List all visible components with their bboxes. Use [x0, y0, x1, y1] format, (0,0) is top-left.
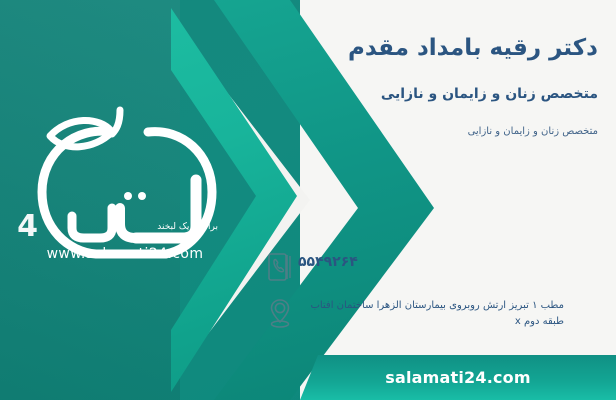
- logo-tagline: براحتی یک لبخند: [157, 222, 218, 232]
- address-text: مطب ۱ تبریز ارتش روبروی بیمارستان الزهرا…: [298, 294, 564, 329]
- doctor-info: دکتر رقیه بامداد مقدم متخصص زنان و زایما…: [268, 34, 598, 139]
- footer-bar: salamati24.com: [300, 355, 616, 400]
- salamati24-logo: 24 براحتی یک لبخند www.salamati24.com: [16, 96, 226, 276]
- logo-url: www.salamati24.com: [20, 246, 230, 262]
- location-pin-icon: [262, 294, 298, 332]
- address-row: مطب ۱ تبریز ارتش روبروی بیمارستان الزهرا…: [262, 294, 602, 332]
- doctor-specialty: متخصص زنان و زایمان و نازایی: [268, 85, 598, 105]
- footer-site: salamati24.com: [385, 368, 531, 387]
- doctor-specialty-secondary: متخصص زنان و زایمان و نازایی: [268, 124, 598, 139]
- contact-block: ۵۵۴۹۲۶۴ مطب ۱ تبریز ارتش روبروی بیمارستا…: [262, 248, 602, 340]
- business-card: 24 براحتی یک لبخند www.salamati24.com دک…: [0, 0, 616, 400]
- logo-24-text: 24: [16, 209, 38, 244]
- doctor-name: دکتر رقیه بامداد مقدم: [268, 34, 598, 63]
- phonebook-icon: [262, 248, 298, 286]
- phone-number: ۵۵۴۹۲۶۴: [298, 248, 358, 270]
- phone-row: ۵۵۴۹۲۶۴: [262, 248, 602, 286]
